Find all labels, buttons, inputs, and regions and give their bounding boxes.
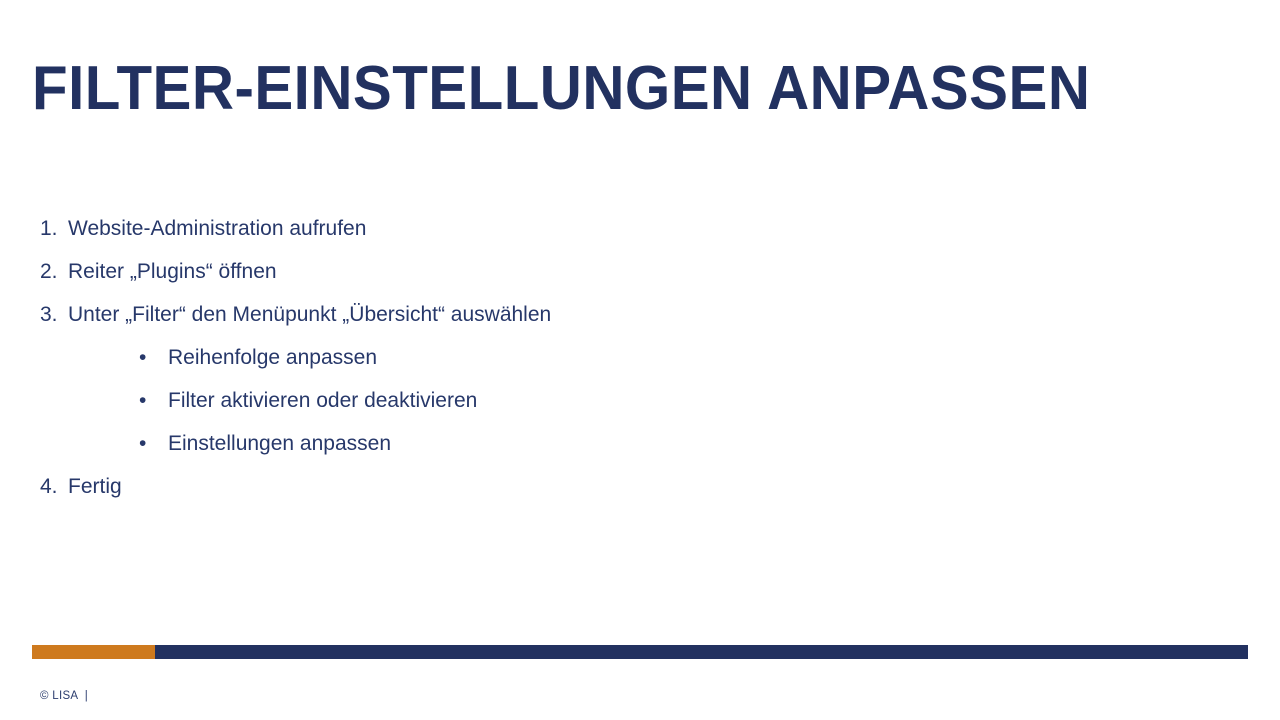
list-marker: 3. [40, 300, 58, 330]
sub-list-item-label: Filter aktivieren oder deaktivieren [168, 389, 477, 412]
page-title: Filter-Einstellungen anpassen [32, 55, 1151, 123]
slide: Filter-Einstellungen anpassen 1. Website… [0, 0, 1280, 720]
list-marker: 2. [40, 257, 58, 287]
list-marker: 4. [40, 472, 58, 502]
bullet-icon: • [139, 429, 146, 459]
sub-list-item-3: • Einstellungen anpassen [0, 429, 1280, 472]
list-item-label: Reiter „Plugins“ öffnen [68, 260, 277, 283]
footer-decoration-bar [32, 645, 1248, 659]
content-list: 1. Website-Administration aufrufen 2. Re… [0, 214, 1280, 515]
sub-list-item-2: • Filter aktivieren oder deaktivieren [0, 386, 1280, 429]
list-item-step-1: 1. Website-Administration aufrufen [0, 214, 1280, 257]
bullet-icon: • [139, 386, 146, 416]
list-item-step-4: 4. Fertig [0, 472, 1280, 515]
list-item-label: Unter „Filter“ den Menüpunkt „Übersicht“… [68, 303, 551, 326]
list-item-step-3: 3. Unter „Filter“ den Menüpunkt „Übersic… [0, 300, 1280, 343]
list-item-step-2: 2. Reiter „Plugins“ öffnen [0, 257, 1280, 300]
sub-list-item-label: Einstellungen anpassen [168, 432, 391, 455]
copyright-text: © LISA | [40, 688, 88, 704]
list-item-label: Website-Administration aufrufen [68, 217, 366, 240]
sub-list-item-label: Reihenfolge anpassen [168, 346, 377, 369]
list-item-label: Fertig [68, 475, 122, 498]
sub-list-item-1: • Reihenfolge anpassen [0, 343, 1280, 386]
bullet-icon: • [139, 343, 146, 373]
footer-bar-accent-segment [32, 645, 155, 659]
list-marker: 1. [40, 214, 58, 244]
footer-bar-main-segment [155, 645, 1248, 659]
